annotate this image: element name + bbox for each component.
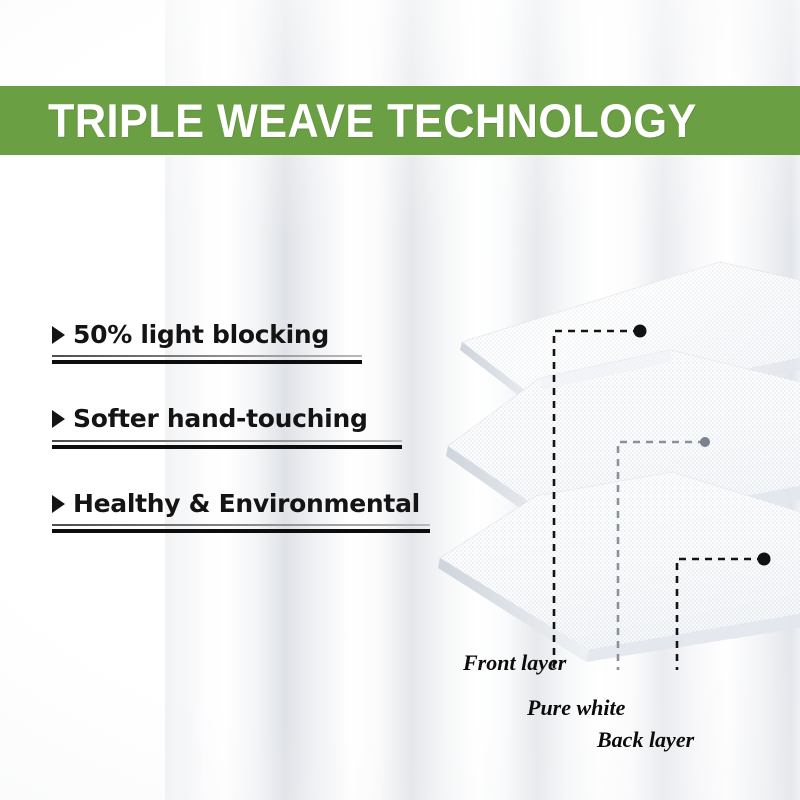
feature-list: 50% light blocking Softer hand-touching …: [52, 322, 482, 575]
triangle-right-icon: [52, 410, 65, 428]
front-layer-label: Front layer: [463, 650, 566, 676]
feature-label: Healthy & Environmental: [73, 491, 420, 517]
feature-item-healthy: Healthy & Environmental: [52, 491, 482, 533]
feature-label: 50% light blocking: [73, 322, 329, 348]
product-feature-banner: TRIPLE WEAVE TECHNOLOGY 50% light blocki…: [0, 0, 800, 800]
fabric-stack-illustration: [420, 250, 800, 670]
feature-item-soft-hand: Softer hand-touching: [52, 406, 482, 448]
rule-thick: [52, 360, 362, 364]
feature-item-light-blocking: 50% light blocking: [52, 322, 482, 364]
leader-dot-front: [634, 325, 647, 338]
feature-underline: [52, 524, 482, 533]
page-title: TRIPLE WEAVE TECHNOLOGY: [48, 97, 697, 144]
pure-white-label: Pure white: [527, 695, 625, 721]
back-layer-label: Back layer: [597, 727, 694, 753]
feature-label: Softer hand-touching: [73, 406, 368, 432]
rule-thin: [52, 440, 402, 442]
feature-underline: [52, 355, 482, 364]
feature-underline: [52, 440, 482, 449]
rule-thin: [52, 355, 362, 357]
leader-dot-middle: [700, 437, 710, 447]
triangle-right-icon: [52, 495, 65, 513]
rule-thin: [52, 524, 430, 526]
triangle-right-icon: [52, 326, 65, 344]
header-band: TRIPLE WEAVE TECHNOLOGY: [0, 86, 800, 155]
rule-thick: [52, 445, 402, 449]
rule-thick: [52, 529, 430, 533]
leader-dot-back: [758, 553, 771, 566]
